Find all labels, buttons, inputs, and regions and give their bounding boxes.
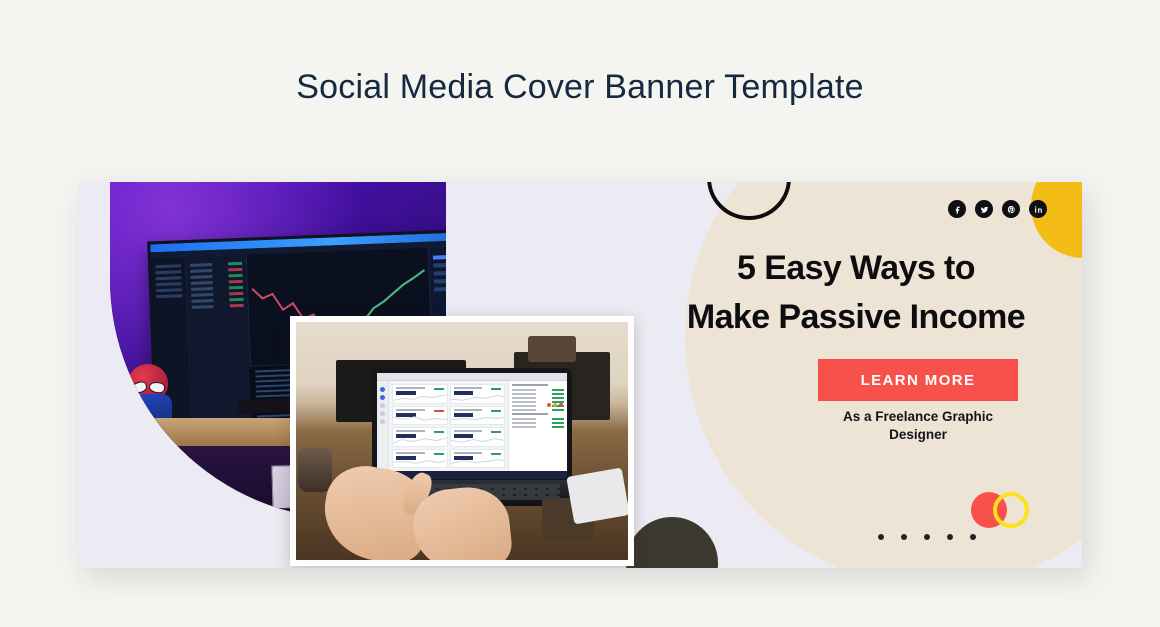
- background-coffee-machine: [528, 336, 576, 362]
- coffee-cup: [298, 448, 332, 492]
- dot: [947, 534, 953, 540]
- spiderman-figure: [124, 364, 172, 422]
- dot: [901, 534, 907, 540]
- laptop-lid: [372, 368, 572, 484]
- yellow-ring-circle: [993, 492, 1029, 528]
- dashboard-nav-rail: [377, 381, 389, 471]
- subtitle-line-1: As a Freelance Graphic: [843, 409, 993, 424]
- social-icon-row: [948, 200, 1047, 218]
- page-title: Social Media Cover Banner Template: [0, 68, 1160, 107]
- dark-corner-shape: [626, 517, 718, 568]
- overlapping-circles-mark: [971, 492, 1029, 528]
- metric-card: [392, 406, 448, 426]
- metric-card: [450, 384, 506, 404]
- laptop-screen: [377, 373, 567, 479]
- metric-card: [392, 384, 448, 404]
- dot: [878, 534, 884, 540]
- dot: [924, 534, 930, 540]
- metric-card: [392, 427, 448, 447]
- banner-subtitle: As a Freelance Graphic Designer: [818, 408, 1018, 444]
- decorative-dot-row: [878, 534, 976, 540]
- metric-card: [450, 449, 506, 469]
- laptop-dashboard-photo: [290, 316, 634, 566]
- linkedin-icon[interactable]: [1029, 200, 1047, 218]
- headline-line-1: 5 Easy Ways to: [737, 249, 975, 287]
- banner-headline: 5 Easy Ways to Make Passive Income: [656, 244, 1056, 342]
- metric-card-grid: [389, 381, 508, 471]
- pinterest-icon[interactable]: [1002, 200, 1020, 218]
- dashboard-side-panel: [508, 381, 567, 471]
- metric-card: [450, 427, 506, 447]
- dot: [970, 534, 976, 540]
- dashboard-top-bar: [377, 373, 567, 381]
- metric-card: [450, 406, 506, 426]
- analytics-dashboard: [377, 381, 567, 471]
- subtitle-line-2: Designer: [889, 427, 947, 442]
- twitter-icon[interactable]: [975, 200, 993, 218]
- status-dots: [547, 403, 563, 407]
- trading-watchlist: [186, 255, 254, 443]
- headline-line-2: Make Passive Income: [656, 293, 1056, 342]
- metric-card: [392, 449, 448, 469]
- social-media-cover-banner: 100: [78, 182, 1082, 568]
- facebook-icon[interactable]: [948, 200, 966, 218]
- desk-phone: [566, 468, 628, 525]
- learn-more-button[interactable]: LEARN MORE: [818, 359, 1018, 401]
